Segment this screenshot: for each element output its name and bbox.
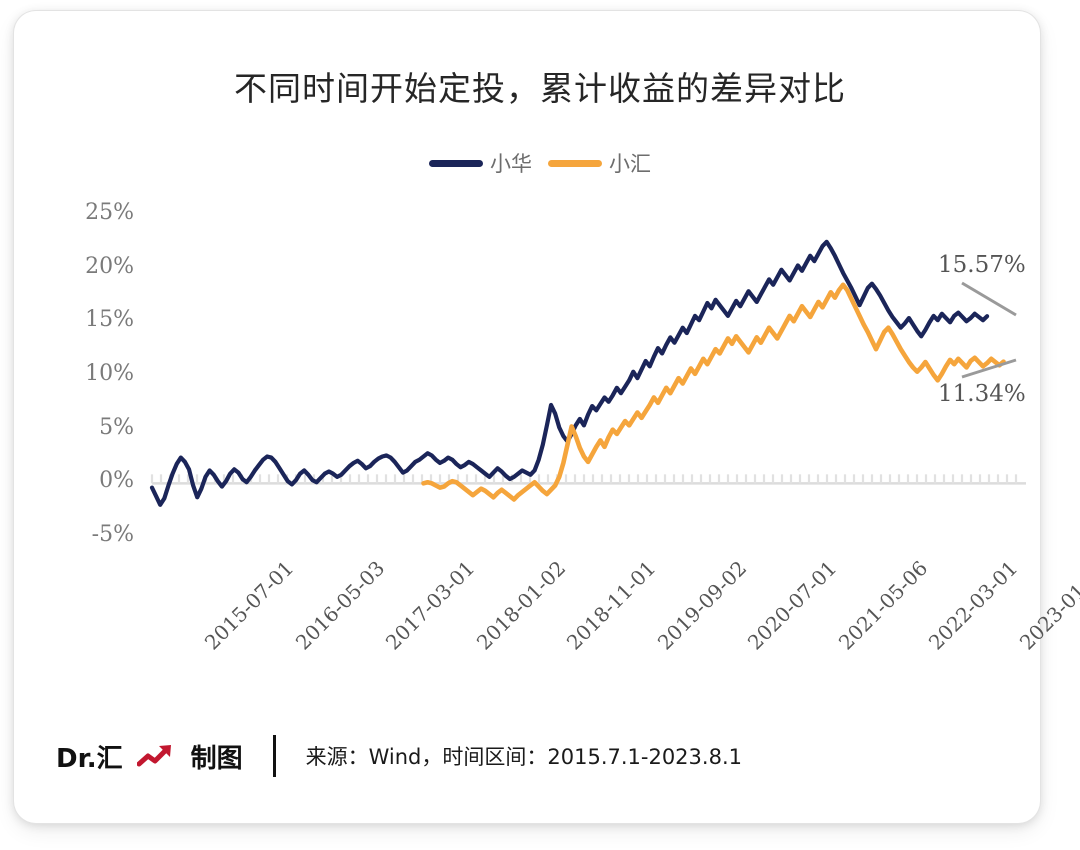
y-tick-label: 25%: [56, 200, 134, 225]
x-tick-label: 2016-05-03: [290, 556, 389, 655]
zero-axis-line: [152, 474, 1026, 483]
x-tick-label: 2018-11-01: [562, 556, 661, 655]
legend-label-xiaohui: 小汇: [609, 148, 651, 178]
x-tick-label: 2021-05-06: [833, 556, 932, 655]
series-line-xiaohui: [424, 285, 1004, 500]
legend-swatch-xiaohui: [548, 160, 602, 167]
leader-line-xiaohui: [962, 360, 1016, 377]
made-by-label: 制图: [191, 738, 243, 775]
legend-label-xiaohua: 小华: [490, 148, 532, 178]
legend-swatch-xiaohua: [429, 160, 483, 167]
y-tick-label: 10%: [56, 361, 134, 386]
y-tick-label: 0%: [56, 468, 134, 493]
x-tick-label: 2017-03-01: [381, 556, 480, 655]
trend-up-arrow-icon: [137, 743, 177, 769]
legend-item-xiaohui[interactable]: 小汇: [548, 148, 651, 178]
x-tick-label: 2015-07-01: [200, 556, 299, 655]
xiaohua-end-value: 15.57%: [938, 252, 1026, 278]
series-line-xiaohua: [152, 242, 987, 505]
y-tick-label: 5%: [56, 415, 134, 440]
chart-legend: 小华 小汇: [0, 148, 1080, 178]
footer-divider: [273, 735, 276, 777]
brand-label: Dr.汇: [56, 738, 123, 775]
x-tick-label: 2019-09-02: [652, 556, 751, 655]
x-tick-label: 2022-03-01: [924, 556, 1023, 655]
xiaohui-end-value: 11.34%: [938, 381, 1026, 407]
legend-item-xiaohua[interactable]: 小华: [429, 148, 532, 178]
y-tick-label: -5%: [56, 522, 134, 547]
leader-line-xiaohua: [962, 283, 1016, 315]
chart-stage: 不同时间开始定投，累计收益的差异对比 小华 小汇 -5%0%5%10%15%20…: [0, 0, 1080, 850]
x-tick-label: 2020-07-01: [743, 556, 842, 655]
y-tick-label: 15%: [56, 307, 134, 332]
x-tick-label: 2018-01-02: [471, 556, 570, 655]
x-tick-label: 2023-01-03: [1014, 556, 1080, 655]
page-title: 不同时间开始定投，累计收益的差异对比: [0, 62, 1080, 110]
y-tick-label: 20%: [56, 254, 134, 279]
source-label: 来源：Wind，时间区间：2015.7.1-2023.8.1: [306, 741, 742, 771]
footer: Dr.汇 制图 来源：Wind，时间区间：2015.7.1-2023.8.1: [56, 735, 742, 777]
plot-area: [0, 0, 1080, 850]
